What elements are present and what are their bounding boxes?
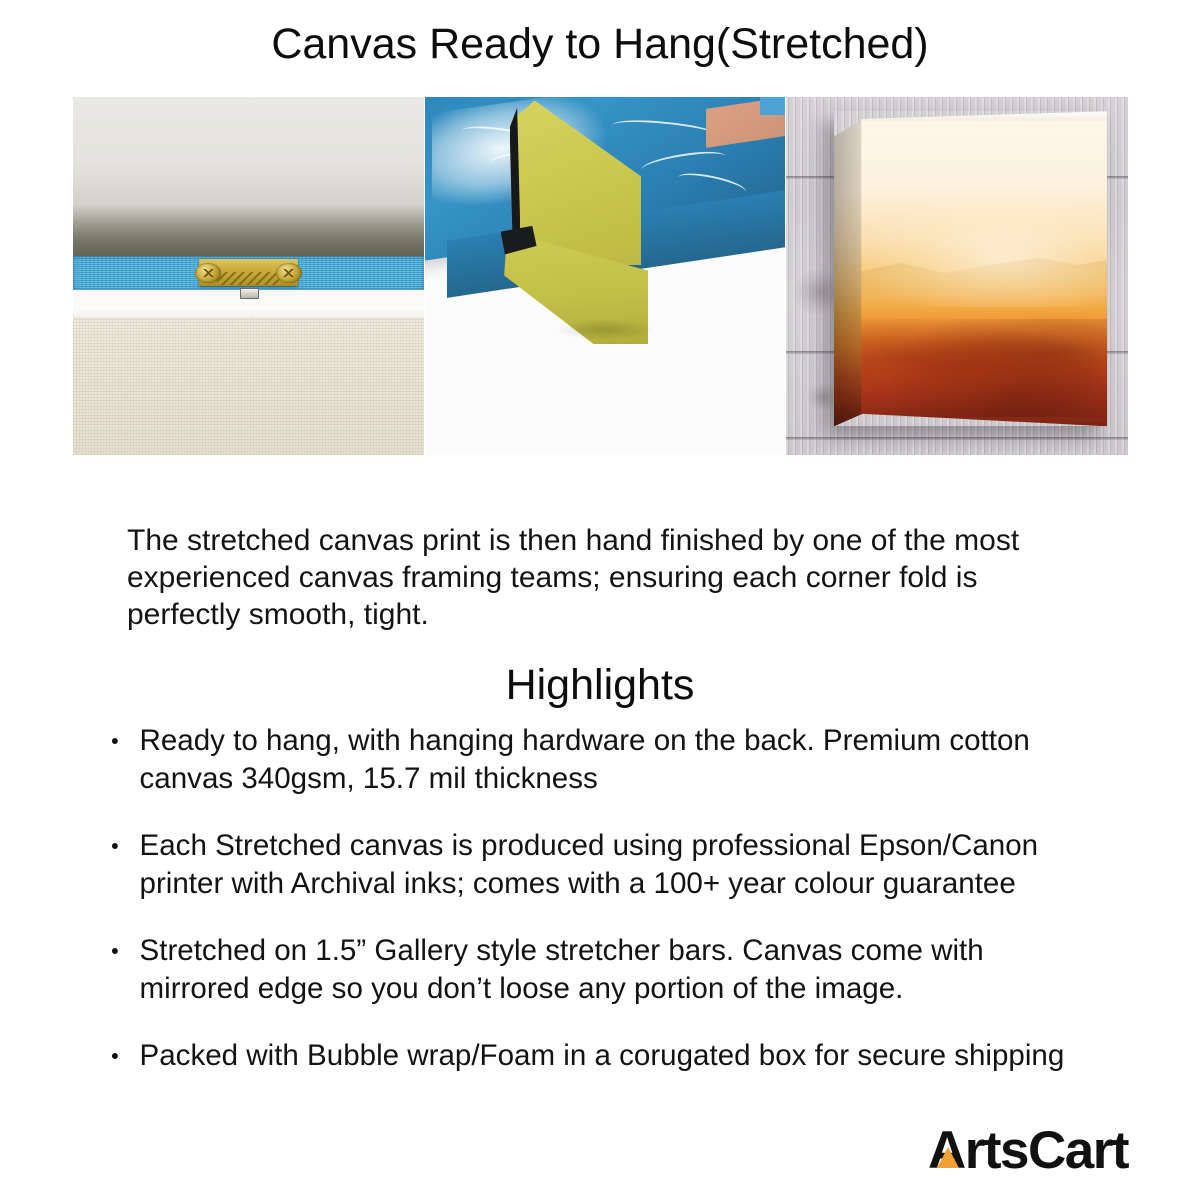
print-foliage [861, 319, 1107, 417]
canvas-side-shading [834, 111, 863, 426]
triangle-icon [937, 1147, 959, 1168]
photo-canvas-corner-fold [425, 97, 785, 455]
raw-canvas-weave [73, 317, 424, 455]
photo-canvas-hung-on-wood-wall [786, 97, 1128, 455]
highlight-text: Stretched on 1.5” Gallery style stretche… [140, 934, 984, 1005]
photo-shadow-band [73, 204, 424, 261]
wood-plank-seam [786, 437, 1128, 440]
highlight-list-item: Ready to hang, with hanging hardware on … [108, 722, 1098, 798]
bullet-icon [112, 843, 118, 849]
stretched-canvas-artwork [834, 111, 1108, 426]
printed-sky-slice [760, 97, 785, 115]
screw-icon-left [195, 263, 221, 283]
print-sun-haze [861, 200, 1107, 307]
screw-icon-right [276, 263, 302, 283]
photo-canvas-back-hanging-hardware [73, 97, 424, 455]
sawtooth-teeth [217, 272, 280, 285]
nail-head [240, 288, 260, 299]
bullet-icon [112, 1053, 118, 1059]
highlight-text: Each Stretched canvas is produced using … [140, 829, 1039, 900]
page-title: Canvas Ready to Hang(Stretched) [0, 0, 1200, 67]
canvas-top-edge [861, 111, 1107, 120]
brand-logo: ArtsCart [928, 1122, 1128, 1178]
bullet-icon [112, 948, 118, 954]
highlight-list-item: Packed with Bubble wrap/Foam in a coruga… [108, 1037, 1098, 1075]
highlight-list-item: Stretched on 1.5” Gallery style stretche… [108, 932, 1098, 1008]
highlights-heading: Highlights [0, 664, 1200, 707]
lead-paragraph: The stretched canvas print is then hand … [127, 522, 1077, 633]
highlights-list: Ready to hang, with hanging hardware on … [108, 722, 1113, 1075]
sawtooth-hanger-icon [199, 259, 297, 286]
corner-fold-shadow [555, 319, 656, 340]
highlight-text: Ready to hang, with hanging hardware on … [140, 724, 1030, 795]
bullet-icon [112, 738, 118, 744]
highlight-list-item: Each Stretched canvas is produced using … [108, 827, 1098, 903]
product-photo-strip [73, 97, 1128, 455]
highlight-text: Packed with Bubble wrap/Foam in a coruga… [140, 1039, 1065, 1072]
